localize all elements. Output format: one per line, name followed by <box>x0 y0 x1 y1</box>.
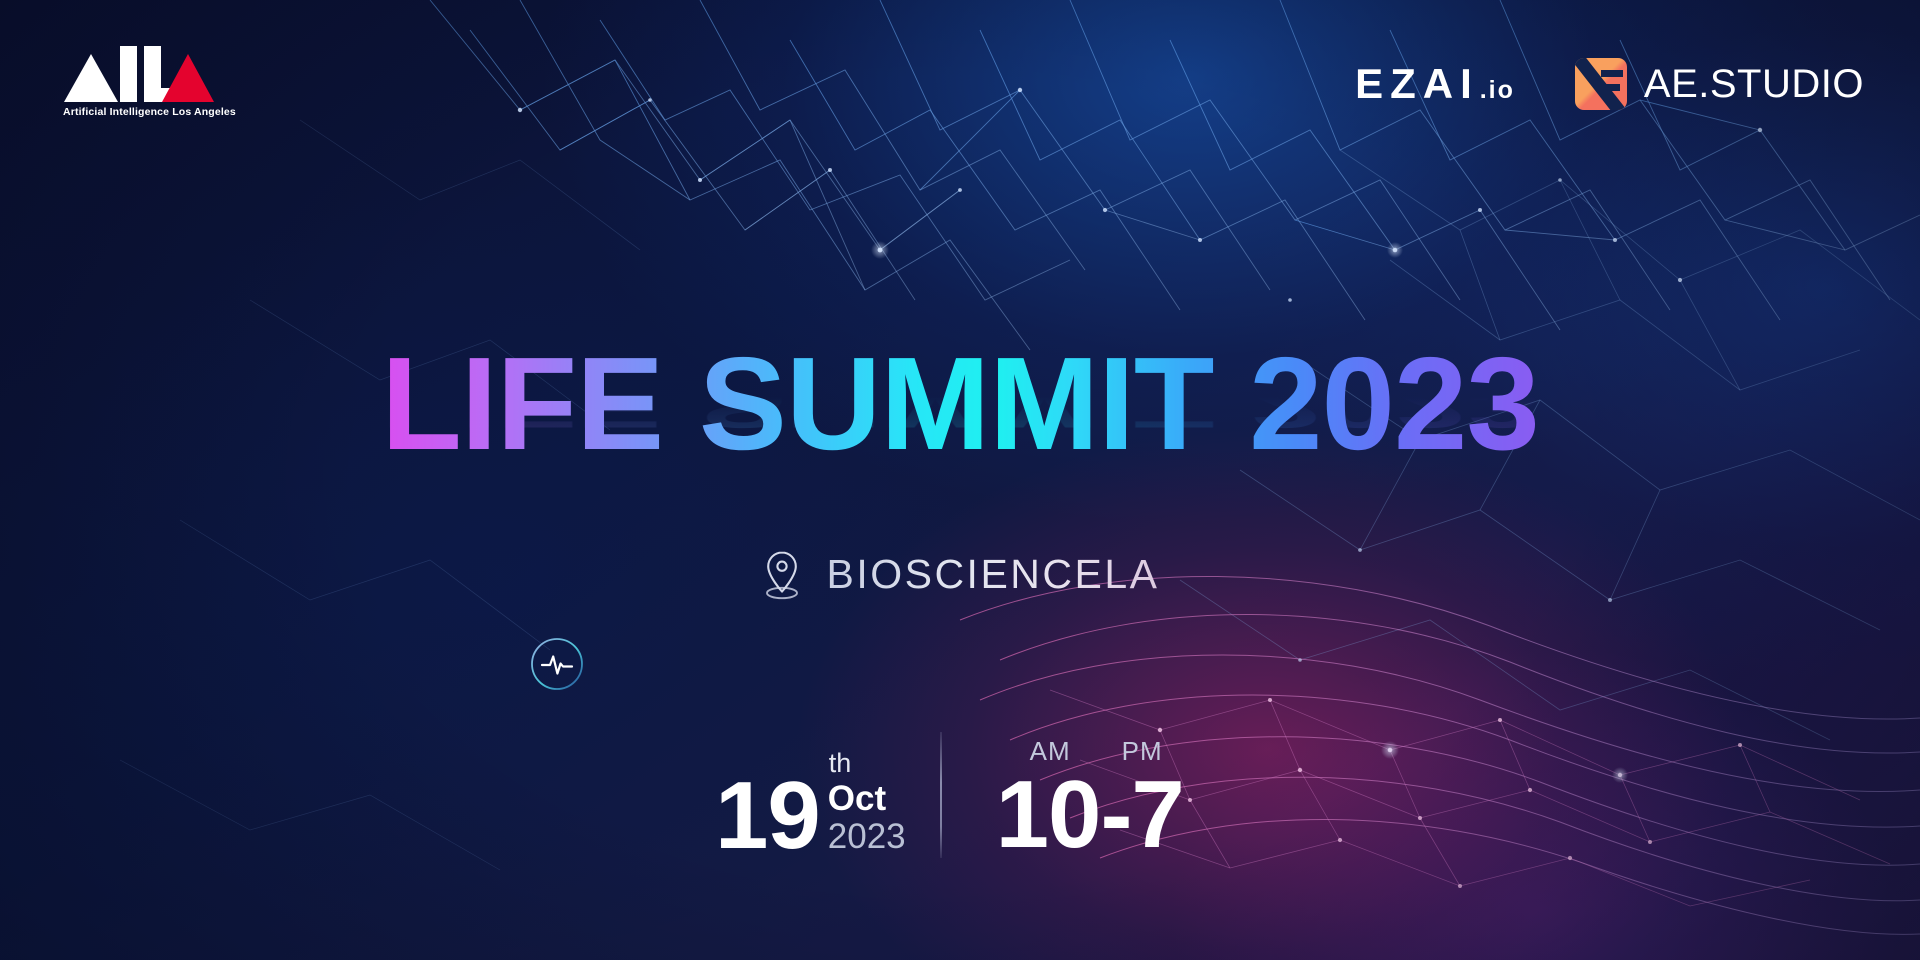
event-banner: Artificial Intelligence Los Angeles EZAI… <box>0 0 1920 960</box>
partner-logos: EZAI.io AE.STUDIO <box>1355 58 1864 110</box>
aila-logo-mark <box>64 46 214 102</box>
hero-title-block: LIFE SUMMIT 2023 <box>0 338 1920 470</box>
aila-logo[interactable]: Artificial Intelligence Los Angeles <box>64 46 214 118</box>
datetime-divider <box>940 732 942 858</box>
ezai-logo[interactable]: EZAI.io <box>1355 60 1515 108</box>
ae-studio-wordmark: AE.STUDIO <box>1644 62 1864 107</box>
aila-tagline: Artificial Intelligence Los Angeles <box>63 106 215 118</box>
event-date-ordinal: th <box>829 750 852 777</box>
aila-letter-a-icon <box>64 54 118 102</box>
aila-letter-i-icon <box>120 46 137 102</box>
event-date-detail: th Oct 2023 <box>828 750 906 860</box>
event-date-block: 19 th Oct 2023 <box>715 750 940 860</box>
aila-letter-a-red-icon <box>162 54 214 102</box>
venue-name: BIOSCIENCELA <box>826 551 1159 598</box>
ae-studio-logo[interactable]: AE.STUDIO <box>1575 58 1864 110</box>
event-date-month: Oct <box>828 781 886 818</box>
ezai-domain-suffix: .io <box>1480 76 1515 105</box>
ae-studio-logo-mark <box>1575 58 1627 110</box>
ezai-wordmark: EZAI <box>1355 60 1479 108</box>
map-pin-icon <box>760 548 804 600</box>
event-time-block: AM PM 10-7 <box>948 736 1184 860</box>
ae-mark-bar-top-icon <box>1601 70 1623 77</box>
event-time-range: 10-7 <box>996 769 1184 860</box>
ae-mark-bar-mid-icon <box>1603 84 1620 91</box>
event-date-year: 2023 <box>828 818 906 856</box>
event-date-day: 19 <box>715 772 820 860</box>
event-datetime: 19 th Oct 2023 AM PM 10-7 <box>715 720 1184 860</box>
venue-row: BIOSCIENCELA <box>0 548 1920 600</box>
event-title: LIFE SUMMIT 2023 <box>381 338 1539 470</box>
